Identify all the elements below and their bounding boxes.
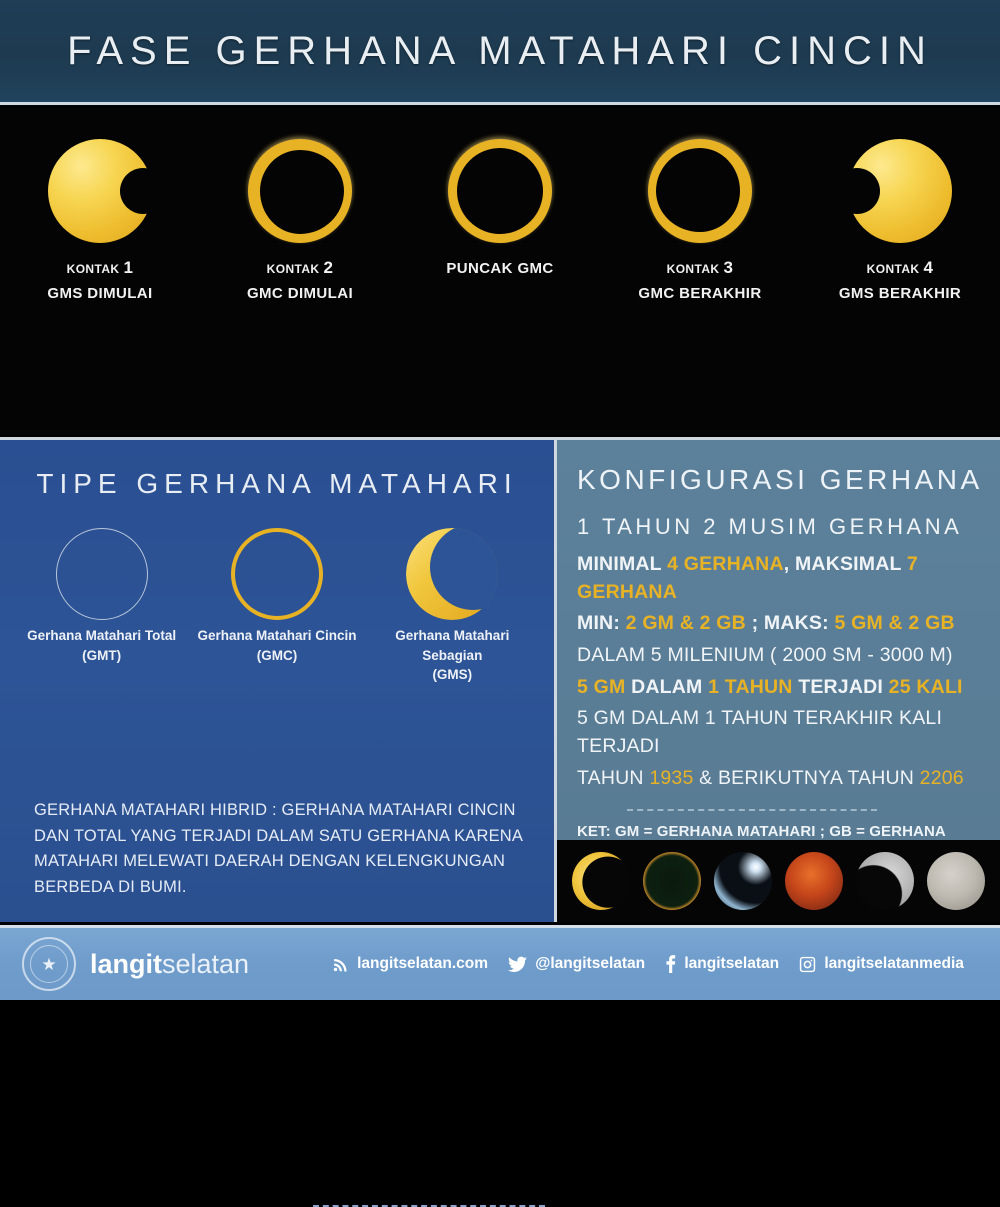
facebook-label: langitselatan	[684, 955, 779, 973]
text-segment-gold: 1 TAHUN	[708, 676, 792, 698]
config-line-frequency: 5 GM DALAM 1 TAHUN TERJADI 25 KALI	[577, 674, 987, 702]
header-bar: FASE GERHANA MATAHARI CINCIN	[0, 0, 1000, 105]
facebook-icon	[665, 955, 676, 974]
phase-label: KONTAK 1 GMS DIMULAI	[47, 256, 152, 304]
langitselatan-seal-logo: ★	[22, 937, 76, 991]
phase-number: 3	[723, 258, 733, 277]
phase-kontak-word: KONTAK	[667, 262, 720, 276]
phase-label: KONTAK 4 GMS BERAKHIR	[839, 256, 961, 304]
text-segment-gold: 2206	[920, 767, 964, 789]
eclipse-photo-strip	[557, 840, 1000, 922]
annular-ring-thick-right-icon	[648, 126, 752, 256]
instagram-icon	[799, 956, 816, 973]
instagram-link[interactable]: langitselatanmedia	[799, 955, 964, 973]
phase-item: KONTAK 2 GMC DIMULAI	[205, 126, 395, 304]
eclipse-types-panel: TIPE GERHANA MATAHARI Gerhana Matahari T…	[0, 437, 557, 922]
gold-ring-icon	[231, 522, 323, 626]
social-links: langitselatan.com @langitselatan langits…	[322, 955, 1000, 974]
text-segment-gold: 2 GM & 2 GB	[626, 612, 746, 634]
diamond-ring-photo	[714, 852, 772, 910]
twitter-link[interactable]: @langitselatan	[508, 955, 645, 973]
text-segment-gold: 5 GM & 2 GB	[834, 612, 954, 634]
phase-kontak-word: KONTAK	[267, 262, 320, 276]
annular-ring-even-icon	[448, 126, 552, 256]
annular-eclipse-photo	[643, 852, 701, 910]
text-segment: TERJADI	[793, 676, 889, 698]
divider	[627, 809, 877, 811]
website-link[interactable]: langitselatan.com	[332, 955, 488, 973]
config-line-seasons: MINIMAL 4 GERHANA, MAKSIMAL 7 GERHANA	[577, 551, 987, 606]
text-segment: & BERIKUTNYA TAHUN	[694, 767, 920, 789]
phase-label: PUNCAK GMC	[446, 256, 553, 280]
phase-number: 2	[324, 258, 334, 277]
annular-ring-thick-left-icon	[248, 126, 352, 256]
page-title: FASE GERHANA MATAHARI CINCIN	[67, 29, 933, 74]
eclipse-phases-band: KONTAK 1 GMS DIMULAI KONTAK 2 GMC DIMULA…	[0, 108, 1000, 435]
type-abbr: (GMS)	[432, 667, 472, 682]
twitter-label: @langitselatan	[535, 955, 645, 973]
eclipse-configuration-panel: KONFIGURASI GERHANA 1 TAHUN 2 MUSIM GERH…	[557, 437, 1000, 922]
website-label: langitselatan.com	[357, 955, 488, 973]
phase-item: KONTAK 1 GMS DIMULAI	[5, 126, 195, 304]
outline-circle-icon	[56, 522, 148, 626]
phase-sublabel: GMS DIMULAI	[47, 283, 152, 305]
sun-partial-left-bite-icon	[848, 126, 952, 256]
type-label: Gerhana Matahari Sebagian (GMS)	[370, 626, 535, 685]
type-abbr: (GMC)	[257, 648, 298, 663]
text-segment-gold: 4 GERHANA	[667, 553, 784, 575]
text-segment: ; MAKS:	[746, 612, 834, 634]
facebook-link[interactable]: langitselatan	[665, 955, 779, 974]
phase-sublabel: GMC DIMULAI	[247, 283, 353, 305]
text-segment-gold: 1935	[649, 767, 693, 789]
sun-partial-right-bite-icon	[48, 126, 152, 256]
type-item: Gerhana Matahari Cincin (GMC)	[194, 522, 359, 685]
config-headline: 1 TAHUN 2 MUSIM GERHANA	[577, 514, 987, 540]
types-panel-title: TIPE GERHANA MATAHARI	[0, 468, 554, 500]
phase-item: KONTAK 3 GMC BERAKHIR	[605, 126, 795, 304]
config-stats-list: 1 TAHUN 2 MUSIM GERHANA MINIMAL 4 GERHAN…	[577, 514, 987, 793]
phase-sublabel: GMS BERAKHIR	[839, 283, 961, 305]
full-moon-photo	[927, 852, 985, 910]
type-name: Gerhana Matahari Total	[27, 628, 176, 643]
eclipse-types-list: Gerhana Matahari Total (GMT) Gerhana Mat…	[0, 522, 554, 685]
phase-number: 1	[123, 258, 133, 277]
text-segment-gold: 5 GM	[577, 676, 625, 698]
partial-lunar-photo	[856, 852, 914, 910]
brand-block[interactable]: ★ langitselatan	[22, 937, 322, 991]
phase-item: PUNCAK GMC	[405, 126, 595, 280]
crescent-sun-photo	[572, 852, 630, 910]
footer-bar: ★ langitselatan langitselatan.com	[0, 925, 1000, 1000]
twitter-icon	[508, 956, 527, 973]
brand-name-bold: langit	[90, 949, 162, 979]
phase-label: KONTAK 2 GMC DIMULAI	[247, 256, 353, 304]
gold-crescent-icon	[406, 522, 498, 626]
lower-panels: TIPE GERHANA MATAHARI Gerhana Matahari T…	[0, 437, 1000, 922]
phase-number: 4	[924, 258, 934, 277]
config-line-minmax: MIN: 2 GM & 2 GB ; MAKS: 5 GM & 2 GB	[577, 610, 987, 638]
instagram-label: langitselatanmedia	[824, 955, 964, 973]
config-line-millennium: DALAM 5 MILENIUM ( 2000 SM - 3000 M)	[577, 642, 987, 670]
phase-sublabel: PUNCAK GMC	[446, 258, 553, 280]
phase-kontak-word: KONTAK	[67, 262, 120, 276]
phase-item: KONTAK 4 GMS BERAKHIR	[805, 126, 995, 304]
type-abbr: (GMT)	[82, 648, 121, 663]
brand-name-light: selatan	[162, 949, 249, 979]
text-segment-gold: 25 KALI	[889, 676, 963, 698]
type-name: Gerhana Matahari Sebagian	[395, 628, 509, 663]
brand-wordmark: langitselatan	[90, 949, 249, 980]
type-label: Gerhana Matahari Total (GMT)	[27, 626, 176, 665]
text-segment: MIN:	[577, 612, 626, 634]
type-name: Gerhana Matahari Cincin	[197, 628, 356, 643]
text-segment: DALAM	[625, 676, 708, 698]
type-label: Gerhana Matahari Cincin (GMC)	[197, 626, 356, 665]
config-panel-title: KONFIGURASI GERHANA	[577, 464, 1000, 496]
phase-kontak-word: KONTAK	[867, 262, 920, 276]
config-line-years: TAHUN 1935 & BERIKUTNYA TAHUN 2206	[577, 765, 987, 793]
hybrid-eclipse-text: GERHANA MATAHARI HIBRID : GERHANA MATAHA…	[34, 798, 534, 900]
text-segment: , MAKSIMAL	[784, 553, 907, 575]
rss-icon	[332, 956, 349, 973]
text-segment: MINIMAL	[577, 553, 667, 575]
infographic-root: FASE GERHANA MATAHARI CINCIN KONTAK 1 GM…	[0, 0, 1000, 1000]
config-line-last-occurrence: 5 GM DALAM 1 TAHUN TERAKHIR KALI TERJADI	[577, 705, 987, 760]
phase-sublabel: GMC BERAKHIR	[638, 283, 761, 305]
text-segment: TAHUN	[577, 767, 649, 789]
phase-label: KONTAK 3 GMC BERAKHIR	[638, 256, 761, 304]
blood-moon-photo	[785, 852, 843, 910]
seal-inner-emblem: ★	[30, 945, 68, 983]
type-item: Gerhana Matahari Sebagian (GMS)	[370, 522, 535, 685]
type-item: Gerhana Matahari Total (GMT)	[19, 522, 184, 685]
